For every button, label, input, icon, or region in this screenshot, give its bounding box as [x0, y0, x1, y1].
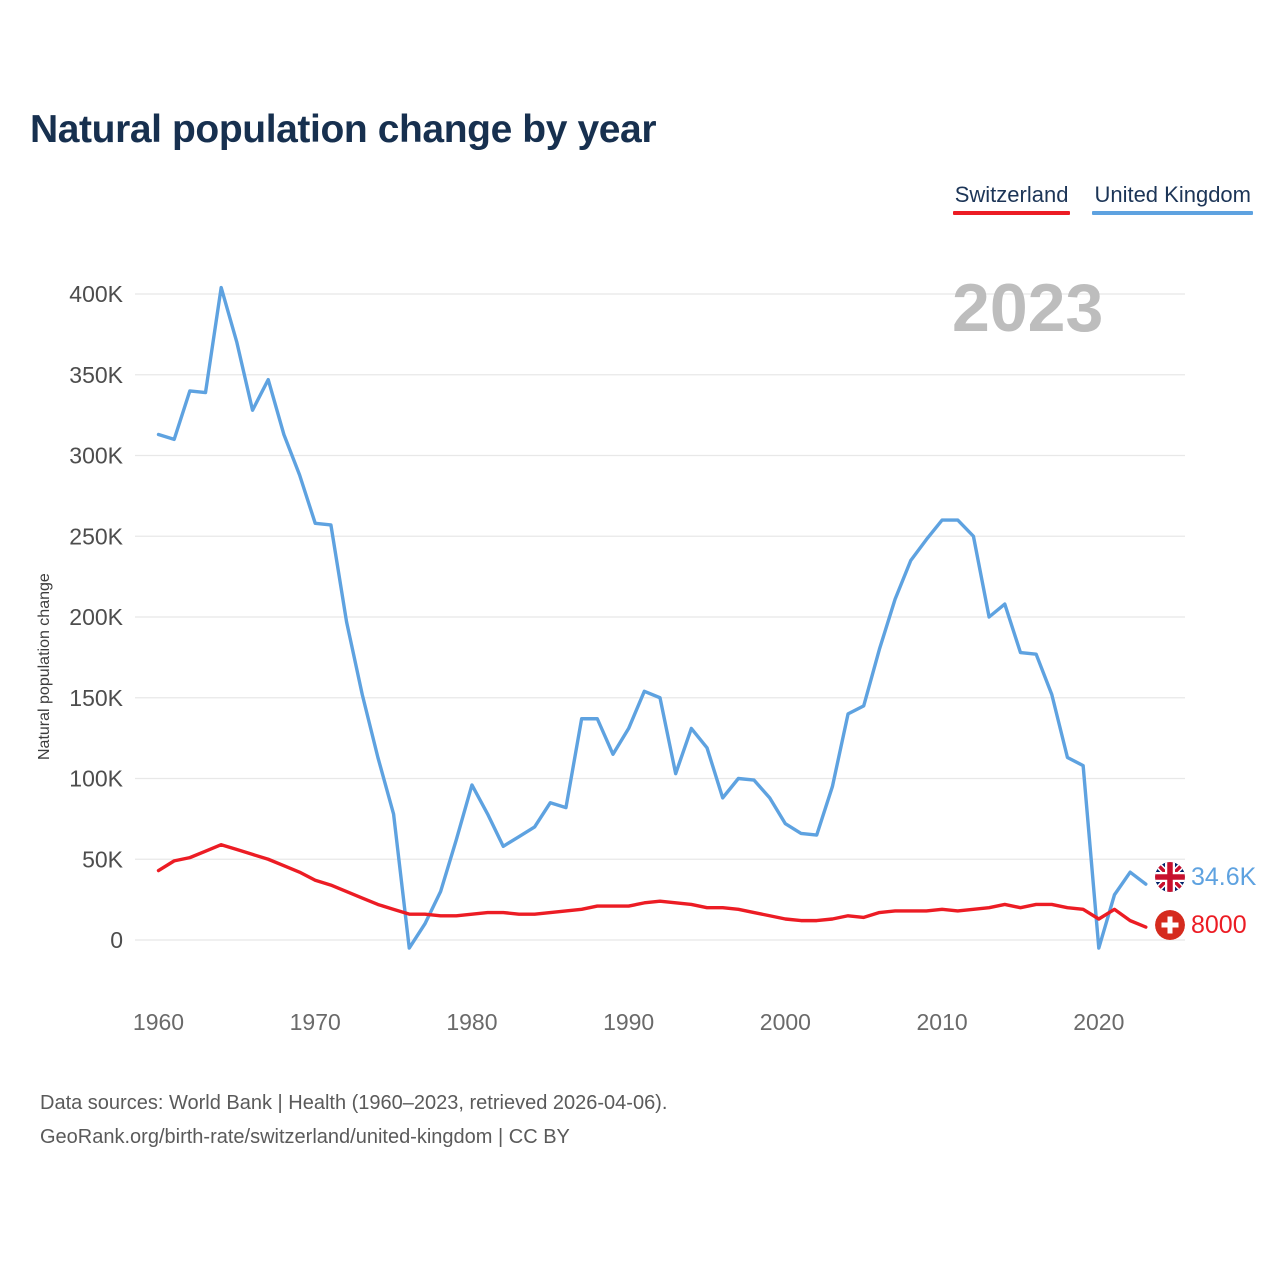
footer-attribution: Data sources: World Bank | Health (1960–… [40, 1086, 667, 1154]
chart-page: Natural population change by year Switze… [0, 0, 1280, 1280]
footer-line-data-sources: Data sources: World Bank | Health (1960–… [40, 1086, 667, 1120]
gridlines [135, 294, 1185, 940]
legend-label-switzerland: Switzerland [953, 182, 1071, 208]
end-label-united-kingdom: 34.6K [1155, 862, 1256, 892]
swiss-flag-icon [1155, 910, 1185, 940]
y-axis-tick-label: 0 [110, 927, 123, 953]
y-axis-tick-label: 200K [69, 604, 123, 630]
legend-item-united-kingdom[interactable]: United Kingdom [1092, 182, 1253, 215]
legend-item-switzerland[interactable]: Switzerland [953, 182, 1071, 215]
y-axis-tick-label: 350K [69, 362, 123, 388]
end-label-switzerland: 8000 [1155, 910, 1247, 940]
year-watermark: 2023 [952, 272, 1103, 344]
x-axis-tick-label: 2000 [760, 1009, 811, 1035]
end-value-united-kingdom: 34.6K [1191, 865, 1256, 890]
y-axis-tick-label: 300K [69, 443, 123, 469]
footer-line-url: GeoRank.org/birth-rate/switzerland/unite… [40, 1120, 667, 1154]
x-axis-tick-label: 2010 [917, 1009, 968, 1035]
legend-label-united-kingdom: United Kingdom [1092, 182, 1253, 208]
y-axis-tick-label: 250K [69, 523, 123, 549]
x-axis-tick-label: 1970 [290, 1009, 341, 1035]
series-line-switzerland [159, 845, 1146, 927]
y-axis-tick-label: 50K [82, 846, 124, 872]
y-axis-tick-label: 100K [69, 766, 123, 792]
y-axis-tick-label: 400K [69, 281, 123, 307]
x-axis-tick-label: 1990 [603, 1009, 654, 1035]
y-axis-tick-labels: 050K100K150K200K250K300K350K400K [69, 281, 123, 953]
legend-color-swatch-united-kingdom [1092, 211, 1253, 215]
legend-color-swatch-switzerland [953, 211, 1071, 215]
uk-flag-icon [1155, 862, 1185, 892]
x-axis-tick-labels: 1960197019801990200020102020 [133, 1009, 1124, 1035]
x-axis-tick-label: 2020 [1073, 1009, 1124, 1035]
chart-legend: Switzerland United Kingdom [953, 182, 1253, 215]
series-line-united-kingdom [159, 288, 1146, 949]
x-axis-tick-label: 1980 [446, 1009, 497, 1035]
page-title: Natural population change by year [30, 108, 656, 152]
data-series-lines [159, 288, 1146, 949]
y-axis-tick-label: 150K [69, 685, 123, 711]
y-axis-title: Natural population change [36, 573, 53, 760]
x-axis-tick-label: 1960 [133, 1009, 184, 1035]
end-value-switzerland: 8000 [1191, 913, 1247, 938]
